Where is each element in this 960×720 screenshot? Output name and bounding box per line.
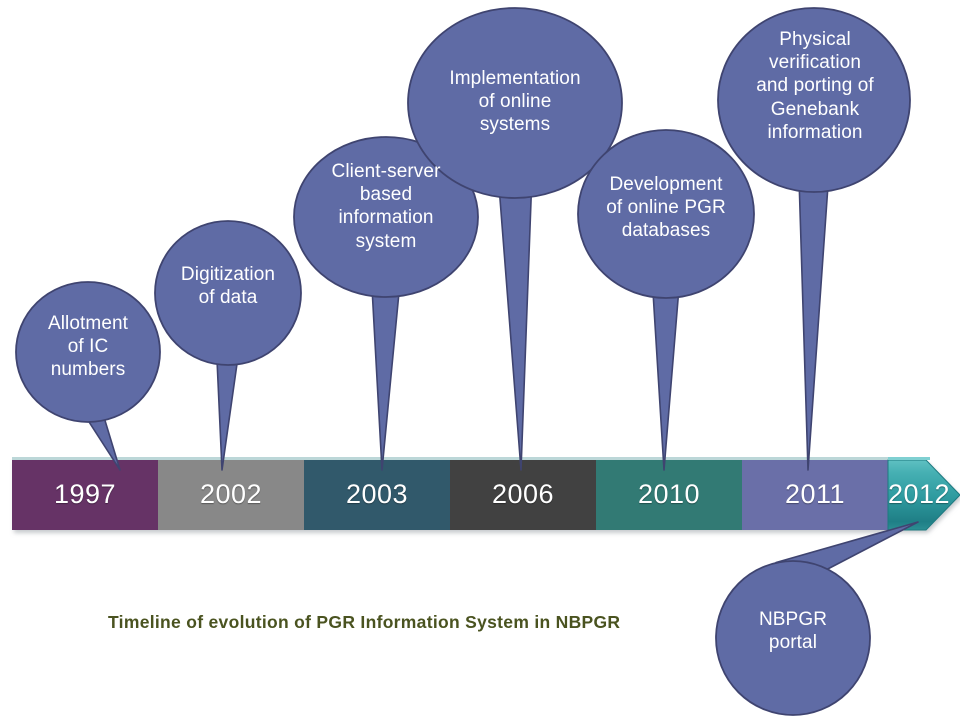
timeline-bar — [12, 457, 960, 530]
timeline-segment-highlight — [158, 457, 304, 460]
timeline-segment-1997[interactable] — [12, 460, 158, 530]
timeline-segment-highlight — [888, 457, 930, 460]
timeline-segment-highlight — [596, 457, 742, 460]
timeline-segment-2010[interactable] — [596, 460, 742, 530]
timeline-segment-highlight — [742, 457, 888, 460]
timeline-segment-2002[interactable] — [158, 460, 304, 530]
callout-2006-bubble[interactable] — [408, 8, 622, 198]
callout-2010-tail — [652, 274, 680, 470]
timeline-segment-2003[interactable] — [304, 460, 450, 530]
timeline-segment-2011[interactable] — [742, 460, 888, 530]
diagram-caption: Timeline of evolution of PGR Information… — [108, 612, 620, 633]
callout-2011-tail — [799, 166, 830, 470]
callout-bubbles — [16, 8, 910, 715]
callout-2012-bubble[interactable] — [716, 561, 870, 715]
callout-2010-bubble[interactable] — [578, 130, 754, 298]
timeline-segment-highlight — [450, 457, 596, 460]
callout-1997-bubble[interactable] — [16, 282, 160, 422]
callout-2011-bubble[interactable] — [718, 8, 910, 192]
timeline-diagram: 1997200220032006201020112012 Allotment o… — [0, 0, 960, 720]
callout-2003-tail — [371, 275, 400, 470]
timeline-segment-highlight — [304, 457, 450, 460]
timeline-segment-2006[interactable] — [450, 460, 596, 530]
callout-2006-tail — [498, 171, 532, 470]
timeline-segment-2012[interactable] — [888, 460, 960, 530]
callout-2002-bubble[interactable] — [155, 221, 301, 365]
timeline-segment-highlight — [12, 457, 158, 460]
